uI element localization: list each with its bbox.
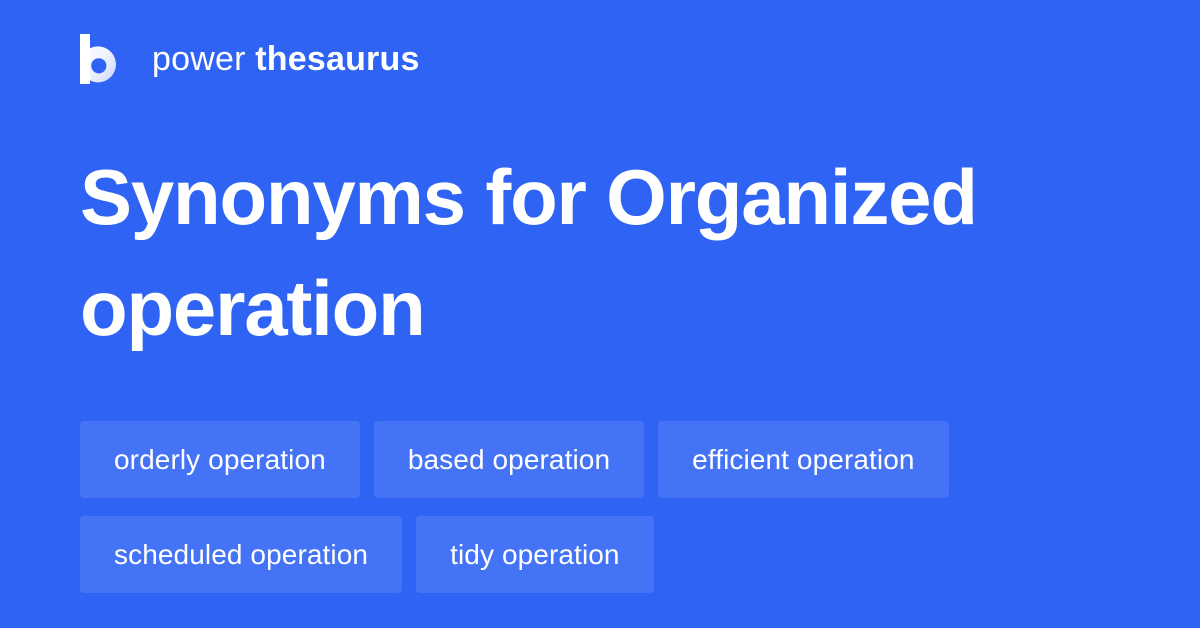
brand-name-part-2: thesaurus [255,40,419,78]
synonym-chip[interactable]: orderly operation [80,421,360,498]
page-title-line-1: Synonyms for Organized [80,142,1120,253]
synonym-chip-list: orderly operation based operation effici… [80,421,1120,593]
synonym-chip[interactable]: based operation [374,421,644,498]
brand-logo[interactable]: power thesaurus [80,32,420,86]
synonym-chip[interactable]: tidy operation [416,516,654,593]
synonym-chip[interactable]: efficient operation [658,421,948,498]
page-title: Synonyms for Organized operation [80,142,1120,364]
brand-name: power thesaurus [152,39,420,79]
share-card: power thesaurus Synonyms for Organized o… [0,0,1200,628]
synonym-chip[interactable]: scheduled operation [80,516,402,593]
page-title-line-2: operation [80,253,1120,364]
brand-name-part-1: power [152,40,246,78]
power-thesaurus-b-logo-icon [80,34,124,84]
